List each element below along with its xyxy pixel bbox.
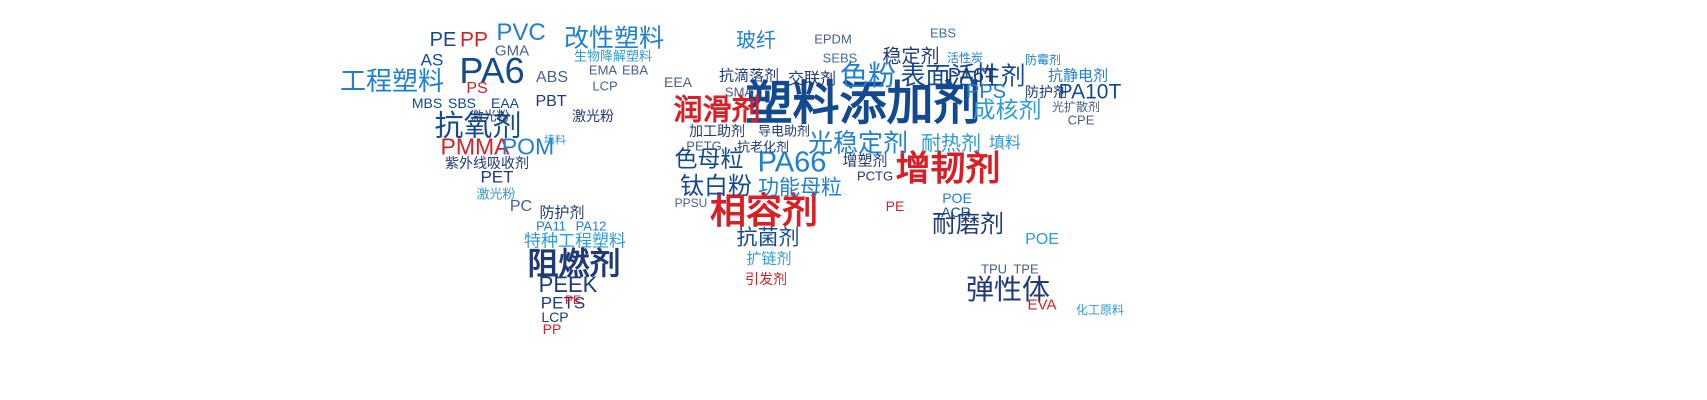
word-cloud-term[interactable]: PETG (686, 140, 721, 153)
word-cloud-term[interactable]: EEA (664, 75, 692, 89)
word-cloud-term[interactable]: EPDM (814, 33, 852, 46)
word-cloud-term[interactable]: 抗静电剂 (1048, 69, 1108, 84)
word-cloud-term[interactable]: 耐热剂 (921, 133, 981, 153)
word-cloud-term[interactable]: 导电助剂 (758, 126, 810, 139)
word-cloud-term[interactable]: PBT (535, 94, 566, 110)
word-cloud-term[interactable]: 抗菌剂 (737, 228, 800, 249)
word-cloud-term[interactable]: 光扩散剂 (1052, 101, 1100, 113)
word-cloud-term[interactable]: 防霉剂 (1025, 54, 1061, 66)
word-cloud-term[interactable]: 增塑剂 (842, 154, 887, 169)
word-cloud-term[interactable]: EBS (930, 27, 956, 40)
word-cloud-term[interactable]: 填料 (544, 135, 566, 146)
word-cloud-term[interactable]: PE (886, 199, 905, 213)
word-cloud-term[interactable]: 引发剂 (745, 273, 787, 287)
word-cloud-term[interactable]: EMA (589, 64, 617, 77)
word-cloud-term[interactable]: 钛白粉 (680, 174, 752, 198)
word-cloud-canvas: 塑料添加剂相容剂增韧剂阻燃剂润滑剂表面活性剂光稳定剂抗氧剂工程塑料改性塑料PA6… (0, 0, 1707, 400)
word-cloud-term[interactable]: 活性炭 (947, 52, 983, 64)
word-cloud-term[interactable]: SEBS (823, 52, 858, 65)
word-cloud-term[interactable]: 润滑剂 (673, 96, 760, 125)
word-cloud-term[interactable]: SBS (448, 96, 476, 110)
word-cloud-term[interactable]: 增韧剂 (895, 153, 1000, 188)
word-cloud-term[interactable]: PVC (496, 21, 545, 45)
word-cloud-term[interactable]: 激光粉 (572, 110, 614, 124)
word-cloud-term[interactable]: ACR (941, 205, 971, 219)
word-cloud-term[interactable]: 工程塑料 (340, 69, 444, 95)
word-cloud-term[interactable]: 功能母粒 (758, 178, 842, 199)
word-cloud-term[interactable]: 特种工程塑料 (524, 234, 626, 251)
word-cloud-term[interactable]: LCP (541, 310, 568, 324)
word-cloud-term[interactable]: PE (430, 30, 457, 50)
word-cloud-term[interactable]: 填料 (989, 135, 1021, 151)
word-cloud-term[interactable]: 抗滴落剂 (719, 69, 779, 84)
word-cloud-term[interactable]: 改性塑料 (564, 26, 664, 51)
word-cloud-term[interactable]: 加工助剂 (689, 125, 745, 139)
word-cloud-term[interactable]: MBS (412, 96, 442, 110)
word-cloud-term[interactable]: GMA (495, 44, 529, 59)
word-cloud-term[interactable]: PE (565, 294, 581, 306)
word-cloud-term[interactable]: 防护剂 (539, 206, 584, 221)
word-cloud-term[interactable]: POE (1025, 232, 1059, 248)
word-cloud-term[interactable]: EBA (622, 64, 648, 77)
word-cloud-term[interactable]: EAA (491, 96, 519, 110)
word-cloud-term[interactable]: 防护剂 (1025, 86, 1067, 100)
word-cloud-term[interactable]: TPE (1013, 263, 1038, 276)
word-cloud-term[interactable]: PPSU (675, 197, 708, 209)
word-cloud-term[interactable]: 稳定剂 (882, 48, 939, 67)
word-cloud-term[interactable]: 玻纤 (736, 30, 776, 50)
word-cloud-term[interactable]: 激光粉 (470, 111, 509, 124)
word-cloud-term[interactable]: PCTG (857, 170, 893, 183)
word-cloud-term[interactable]: ABS (536, 70, 568, 86)
word-cloud-term[interactable]: AS (421, 52, 444, 69)
word-cloud-term[interactable]: TPU (981, 263, 1007, 276)
word-cloud-term[interactable]: 交联剂 (788, 71, 836, 87)
word-cloud-term[interactable]: PP (460, 30, 488, 51)
word-cloud-term[interactable]: 生物降解塑料 (574, 51, 652, 64)
word-cloud-term[interactable]: CPE (1068, 114, 1095, 127)
word-cloud-term[interactable]: PPS (966, 82, 1006, 102)
word-cloud-term[interactable]: EVA (1028, 298, 1057, 313)
word-cloud-term[interactable]: 扩链剂 (746, 252, 791, 267)
word-cloud-term[interactable]: 化工原料 (1076, 304, 1124, 316)
word-cloud-term[interactable]: 激光粉 (476, 189, 515, 202)
word-cloud-term[interactable]: POE (942, 191, 972, 205)
word-cloud-term[interactable]: 抗老化剂 (737, 142, 789, 155)
word-cloud-term[interactable]: 紫外线吸收剂 (445, 157, 529, 171)
word-cloud-term[interactable]: LCP (592, 80, 617, 93)
word-cloud-term[interactable]: SMA (725, 86, 753, 99)
